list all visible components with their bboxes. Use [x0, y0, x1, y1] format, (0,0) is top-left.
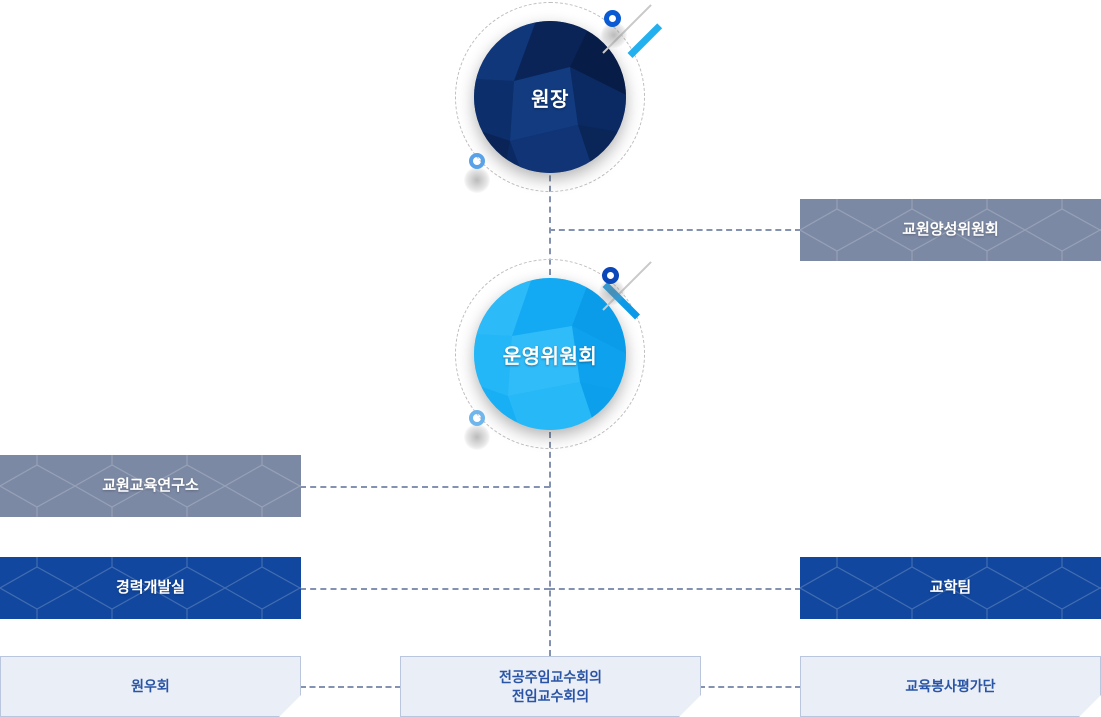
- steering-deco-ring-top: [602, 267, 619, 284]
- career-development-office-label: 경력개발실: [116, 578, 185, 598]
- professor-meetings-label-line1: 전공주임교수회의: [499, 669, 602, 685]
- teacher-training-committee-label: 교원양성위원회: [902, 220, 999, 240]
- org-chart-canvas: 원장 운영위원회: [0, 0, 1101, 717]
- node-academic-team[interactable]: 교학팀: [800, 557, 1101, 619]
- connector-steering-trunk: [549, 432, 551, 656]
- steering-deco-ring-left: [469, 410, 485, 426]
- node-career-development-office[interactable]: 경력개발실: [0, 557, 301, 619]
- professor-meetings-label-line2: 전임교수회의: [512, 688, 589, 704]
- director-deco-shadow-dot-left: [464, 167, 490, 193]
- academic-team-label: 교학팀: [930, 578, 971, 598]
- director-deco-ring-top: [604, 10, 621, 27]
- node-steering-committee[interactable]: 운영위원회: [455, 259, 645, 449]
- node-education-service-evaluation[interactable]: 교육봉사평가단: [800, 656, 1101, 717]
- education-service-evaluation-label: 교육봉사평가단: [905, 677, 995, 696]
- steering-deco-shadow-dot-left: [464, 424, 490, 450]
- node-teacher-education-institute[interactable]: 교원교육연구소: [0, 455, 301, 517]
- connector-director-to-training-committee: [549, 229, 801, 231]
- director-deco-ring-left: [469, 153, 485, 169]
- node-alumni-association[interactable]: 원우회: [0, 656, 301, 717]
- node-professor-meetings[interactable]: 전공주임교수회의 전임교수회의: [400, 656, 701, 717]
- director-deco-diagonal-cyan-line: [628, 23, 663, 58]
- connector-steering-to-academic-team: [549, 588, 801, 590]
- alumni-association-label: 원우회: [131, 677, 170, 696]
- connector-professor-meetings-to-evaluation: [699, 686, 801, 688]
- node-teacher-training-committee[interactable]: 교원양성위원회: [800, 199, 1101, 261]
- node-director[interactable]: 원장: [455, 2, 645, 192]
- connector-alumni-to-professor-meetings: [300, 686, 401, 688]
- connector-steering-to-career-office: [300, 588, 550, 590]
- director-label: 원장: [474, 21, 626, 173]
- teacher-education-institute-label: 교원교육연구소: [102, 476, 199, 496]
- connector-steering-to-institute: [300, 486, 550, 488]
- professor-meetings-label: 전공주임교수회의 전임교수회의: [499, 668, 602, 706]
- director-sphere: 원장: [474, 21, 626, 173]
